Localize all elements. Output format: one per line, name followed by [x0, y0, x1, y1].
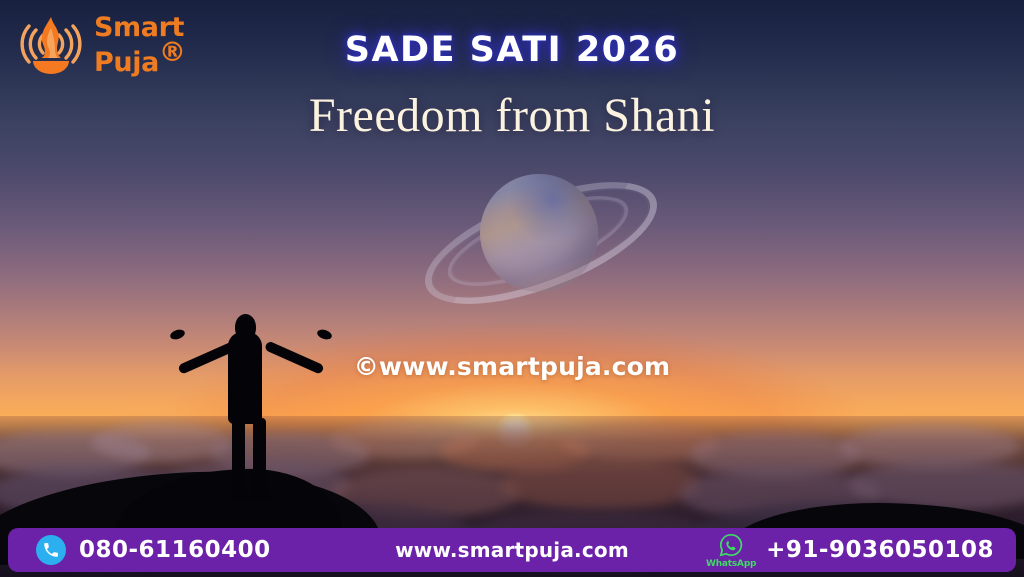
whatsapp-label: WhatsApp: [706, 559, 756, 569]
page-title: SADE SATI 2026: [0, 30, 1024, 70]
poster-canvas: Smart Puja® SADE SATI 2026 Freedom from …: [0, 0, 1024, 577]
footer-whatsapp-number[interactable]: +91-9036050108: [766, 537, 994, 563]
saturn-planet-icon: [418, 160, 650, 310]
whatsapp-icon[interactable]: WhatsApp: [708, 532, 754, 569]
footer-contact-bar: 080-61160400 www.smartpuja.com WhatsApp …: [8, 528, 1016, 572]
footer-whatsapp-group[interactable]: WhatsApp +91-9036050108: [708, 532, 994, 569]
person-silhouette: [176, 306, 326, 498]
watermark-text: ©www.smartpuja.com: [0, 352, 1024, 381]
page-subtitle: Freedom from Shani: [0, 88, 1024, 143]
